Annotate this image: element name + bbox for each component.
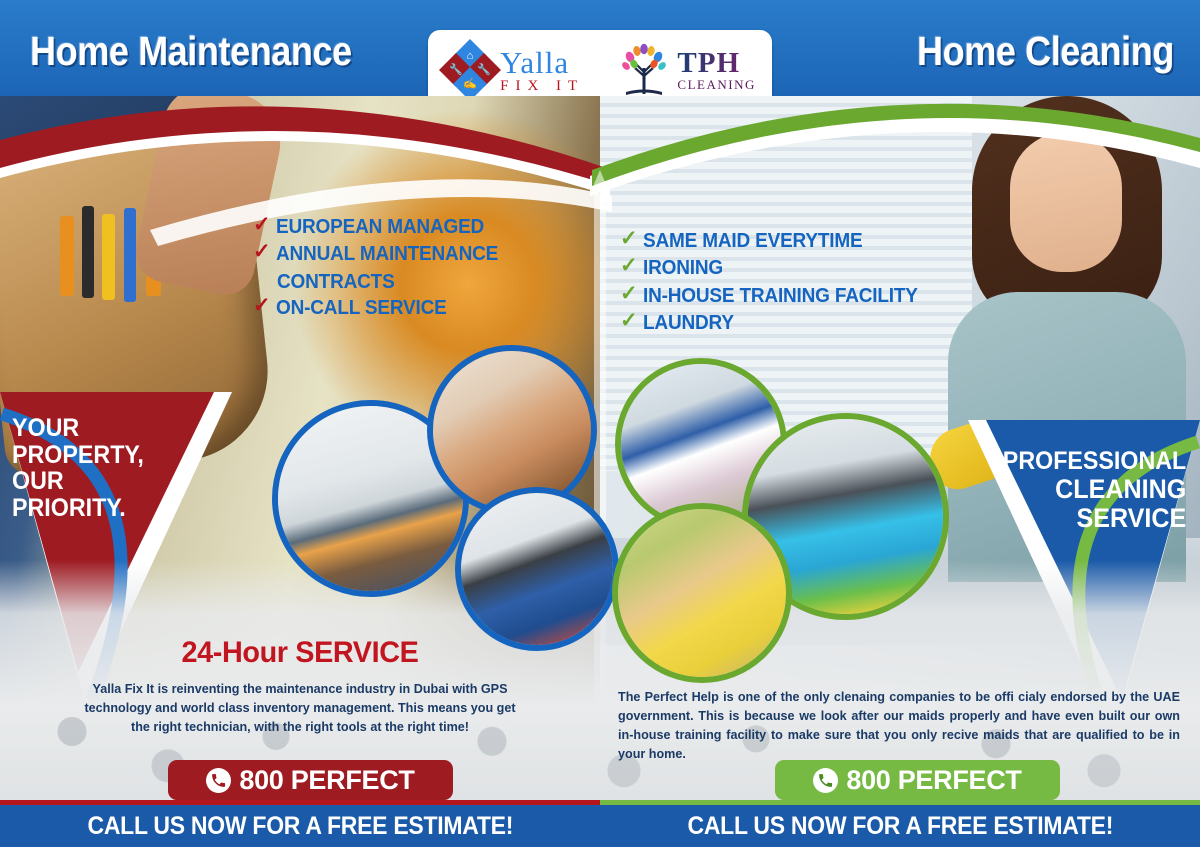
slogan-line: OUR — [12, 468, 144, 495]
bullet-label: SAME MAID EVERYTIME — [643, 228, 862, 254]
phone-handset-icon — [813, 768, 838, 793]
green-check-icon: ✓ — [620, 283, 638, 305]
bullet-label: LAUNDRY — [643, 310, 734, 336]
maintenance-feature-list: ✓ EUROPEAN MANAGED ✓ ANNUAL MAINTENANCE … — [253, 214, 509, 323]
phone-number-label: 800 PERFECT — [239, 765, 414, 796]
flyer-canvas: Home Maintenance Home Cleaning ⌂ 🔧 🔧 ✍ Y… — [0, 0, 1200, 847]
list-item: ✓ IN-HOUSE TRAINING FACILITY — [620, 283, 932, 309]
yalla-logo-name: Yalla — [500, 47, 584, 78]
colorful-tree-icon — [616, 42, 672, 98]
cleaning-feature-list: ✓ SAME MAID EVERYTIME ✓ IRONING ✓ IN-HOU… — [620, 228, 932, 338]
tph-logo-tagline: CLEANING — [677, 78, 755, 91]
phone-button-cleaning[interactable]: 800 PERFECT — [775, 760, 1060, 800]
slogan-line: PROFESSIONAL — [1003, 448, 1186, 475]
green-check-icon: ✓ — [620, 228, 638, 250]
bullet-label: EUROPEAN MANAGED — [276, 214, 484, 240]
bullet-label: ANNUAL MAINTENANCE — [276, 241, 498, 267]
slogan-line: YOUR — [12, 415, 144, 442]
slogan-line: PRIORITY. — [12, 495, 144, 522]
list-item: ✓ IRONING — [620, 255, 932, 281]
tph-logo-name: TPH — [677, 49, 755, 78]
electrician-wiring-photo — [427, 345, 597, 515]
list-item: ✓ EUROPEAN MANAGED — [253, 214, 509, 240]
bullet-label: ON-CALL SERVICE — [276, 295, 447, 321]
slogan-line: PROPERTY, — [12, 442, 144, 469]
list-item: ✓ ON-CALL SERVICE — [253, 295, 509, 321]
list-item: ✓ LAUNDRY — [620, 310, 932, 336]
maintenance-description: Yalla Fix It is reinventing the maintena… — [74, 680, 526, 737]
green-check-icon: ✓ — [620, 255, 638, 277]
service-headline: 24-Hour SERVICE — [12, 636, 588, 670]
yalla-fix-it-logo: ⌂ 🔧 🔧 ✍ Yalla FIX IT — [444, 44, 584, 96]
list-item: ✓ SAME MAID EVERYTIME — [620, 228, 932, 254]
window-cleaning-photo — [612, 503, 792, 683]
red-check-icon: ✓ — [253, 214, 271, 236]
phone-number-label: 800 PERFECT — [846, 765, 1021, 796]
bullet-label: IRONING — [643, 255, 723, 281]
list-item: ✓ ANNUAL MAINTENANCE — [253, 241, 509, 267]
bullet-label-continuation: CONTRACTS — [277, 269, 498, 295]
cleaning-slogan: PROFESSIONAL CLEANING SERVICE — [1003, 448, 1186, 533]
cleaning-description: The Perfect Help is one of the only clen… — [618, 688, 1180, 765]
tph-cleaning-logo: TPH CLEANING — [616, 42, 755, 98]
bullet-label: IN-HOUSE TRAINING FACILITY — [643, 283, 918, 309]
red-check-icon: ✓ — [253, 295, 271, 317]
footer-cta-label: CALL US NOW FOR A FREE ESTIMATE! — [687, 812, 1113, 841]
footer-cta-cleaning[interactable]: CALL US NOW FOR A FREE ESTIMATE! — [600, 805, 1200, 847]
maintenance-slogan: YOUR PROPERTY, OUR PRIORITY. — [12, 415, 144, 521]
page-title-maintenance: Home Maintenance — [30, 28, 352, 75]
yalla-logo-tagline: FIX IT — [500, 79, 584, 94]
footer-cta-label: CALL US NOW FOR A FREE ESTIMATE! — [87, 812, 513, 841]
phone-button-maintenance[interactable]: 800 PERFECT — [168, 760, 453, 800]
green-check-icon: ✓ — [620, 310, 638, 332]
phone-handset-icon — [206, 768, 231, 793]
page-title-cleaning: Home Cleaning — [917, 28, 1174, 75]
slogan-line: SERVICE — [1003, 504, 1186, 533]
plumber-under-sink-photo — [455, 487, 619, 651]
footer-cta-maintenance[interactable]: CALL US NOW FOR A FREE ESTIMATE! — [0, 805, 600, 847]
slogan-line: CLEANING — [1003, 475, 1186, 504]
red-check-icon: ✓ — [253, 241, 271, 263]
diamond-tools-icon: ⌂ 🔧 🔧 ✍ — [444, 44, 496, 96]
